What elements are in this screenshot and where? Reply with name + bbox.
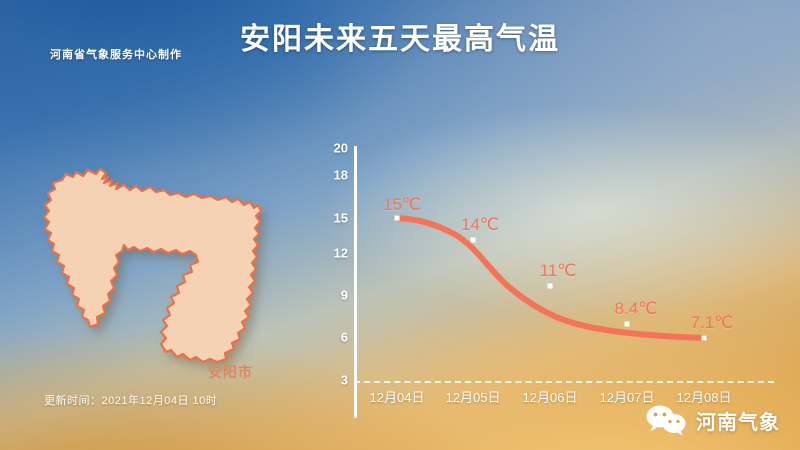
page-subtitle: 河南省气象服务中心制作 [50,46,182,62]
data-point-label: 7.1℃ [691,313,734,333]
temperature-chart: 20 18 15 12 9 6 3 15℃ 14℃ 11℃ 8.4℃ 7.1℃ … [330,135,780,400]
data-point-label: 15℃ [383,195,421,215]
x-tick-label: 12月05日 [446,387,501,406]
data-point-marker [548,284,553,289]
data-point-marker [625,322,630,327]
data-point-label: 14℃ [461,215,499,235]
data-point-marker [471,238,476,243]
anyang-map-svg [40,150,290,380]
update-time: 更新时间：2021年12月04日 10时 [44,392,217,408]
data-point-marker [702,336,707,341]
wechat-account-name: 河南气象 [696,406,780,435]
anyang-boundary-path [44,169,261,362]
data-point-label: 11℃ [540,261,577,281]
wechat-icon [644,404,688,436]
data-point-marker [395,216,400,221]
map-city-label: 安阳市 [208,362,253,382]
x-tick-label: 12月06日 [523,387,578,406]
infographic-canvas: 安阳未来五天最高气温 河南省气象服务中心制作 安阳市 20 18 15 12 9… [0,0,800,450]
anyang-map: 安阳市 [40,150,290,380]
x-tick-label: 12月04日 [370,387,425,406]
data-point-label: 8.4℃ [615,299,658,319]
wechat-watermark: 河南气象 [644,404,780,436]
